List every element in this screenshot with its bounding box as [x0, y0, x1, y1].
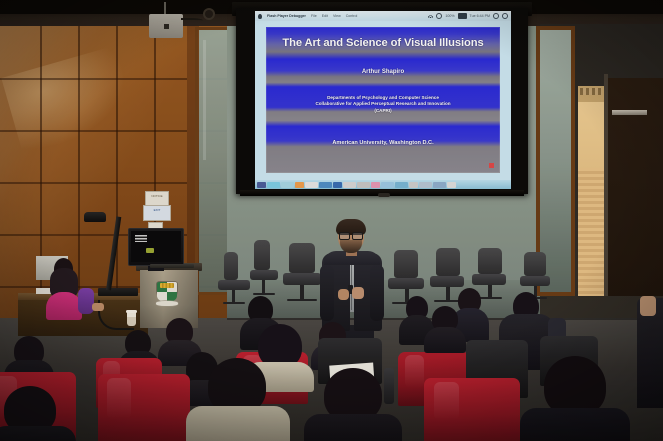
- menu-edit[interactable]: Edit: [322, 14, 328, 18]
- lecture-hall-screenshot: NOTICE EXIT Flash Player Debugger File E…: [0, 0, 663, 441]
- wall-sign-middle: EXIT: [143, 205, 171, 221]
- menubar-clock[interactable]: Tue 6:44 PM: [470, 14, 490, 18]
- dock-icon-13[interactable]: [409, 182, 418, 188]
- dock-icon-4[interactable]: [295, 182, 304, 188]
- presenter-hand-right: [352, 287, 364, 299]
- dock-icon-9[interactable]: [357, 182, 370, 188]
- dock-icon-2[interactable]: [267, 182, 280, 188]
- slide-institution: American University, Washington D.C.: [266, 140, 500, 146]
- dock-icon-10[interactable]: [371, 182, 380, 188]
- projected-display: Flash Player Debugger File Edit View Con…: [255, 11, 511, 189]
- crest-crown-icon: [160, 283, 174, 288]
- dock-icon-3[interactable]: [281, 182, 294, 188]
- audience-member-mid-right: [428, 306, 462, 350]
- document-camera-base: [98, 288, 138, 296]
- alcove-lights-icon: [580, 88, 602, 95]
- dock-icon-5[interactable]: [305, 182, 318, 188]
- dock-icon-12[interactable]: [395, 182, 408, 188]
- wall-camera-icon: [205, 10, 213, 18]
- slide-red-marker: [489, 163, 494, 168]
- menubar-app-title[interactable]: Flash Player Debugger: [267, 14, 306, 18]
- operator-sleeve: [78, 288, 94, 314]
- bluetooth-icon[interactable]: [428, 14, 433, 18]
- alcove-blinds: [578, 168, 604, 296]
- volume-icon[interactable]: [436, 13, 442, 19]
- seat-red-front-mid[interactable]: [98, 374, 190, 441]
- dock-icon-11[interactable]: [381, 182, 394, 188]
- office-chair-center-left[interactable]: [250, 240, 282, 300]
- menu-view[interactable]: View: [333, 14, 341, 18]
- door-push-bar[interactable]: [612, 110, 647, 115]
- keyboard[interactable]: [150, 264, 194, 268]
- slide-author: Arthur Shapiro: [266, 69, 500, 75]
- desktop-monitor[interactable]: [128, 228, 184, 266]
- dock-icon-16[interactable]: [447, 182, 456, 188]
- battery-icon[interactable]: [458, 13, 467, 19]
- apple-logo-icon[interactable]: [258, 14, 262, 19]
- audience-member-6: [186, 358, 290, 441]
- affiliation-line-3: (CAPRI): [266, 108, 500, 114]
- slide-affiliation: Departments of Psychology and Computer S…: [266, 95, 500, 114]
- dock-icon-6[interactable]: [319, 182, 332, 188]
- audience-member-front-left: [0, 386, 76, 441]
- mac-menubar: Flash Player Debugger File Edit View Con…: [255, 11, 511, 21]
- dock-icon-15[interactable]: [433, 182, 446, 188]
- mac-dock[interactable]: [255, 180, 511, 189]
- dock-icon-7[interactable]: [333, 182, 342, 188]
- operator-top: [46, 292, 82, 320]
- menu-file[interactable]: File: [311, 14, 317, 18]
- dock-icon-8[interactable]: [343, 182, 356, 188]
- audience-member-front-center: [304, 368, 402, 441]
- av-operator: [46, 258, 80, 320]
- operator-hand: [92, 303, 104, 311]
- speaker-cable: [181, 18, 203, 22]
- coffee-cup-lid: [126, 310, 137, 313]
- dock-icon-1[interactable]: [257, 182, 266, 188]
- eyeglasses-icon: [339, 232, 363, 238]
- menu-control[interactable]: Control: [346, 14, 358, 18]
- list-icon[interactable]: [502, 13, 508, 19]
- wall-light-glow: [1, 45, 138, 155]
- ceiling-speaker-icon: [149, 14, 183, 38]
- presentation-slide: The Art and Science of Visual Illusions …: [266, 27, 500, 173]
- document-camera: [84, 212, 106, 222]
- monitor-indicator-light: [146, 248, 154, 253]
- glass-highlight: [203, 40, 206, 160]
- screen-pull-knob[interactable]: [378, 193, 390, 197]
- audience-member-front-right: [520, 356, 630, 441]
- presenter-arm-right: [370, 265, 384, 321]
- standing-attendee-hand: [640, 296, 656, 316]
- search-icon[interactable]: [493, 13, 499, 19]
- battery-percent: 100%: [445, 14, 454, 18]
- university-crest: [157, 282, 177, 306]
- dock-icon-14[interactable]: [419, 182, 432, 188]
- slide-title: The Art and Science of Visual Illusions: [266, 37, 500, 49]
- presenter-arm-left: [320, 265, 334, 321]
- presenter-hand-left: [338, 289, 349, 300]
- coffee-cup[interactable]: [127, 312, 136, 326]
- seat-red-front-right[interactable]: [424, 378, 520, 441]
- crest-scroll: [156, 301, 178, 306]
- monitor-sticker: [135, 235, 147, 242]
